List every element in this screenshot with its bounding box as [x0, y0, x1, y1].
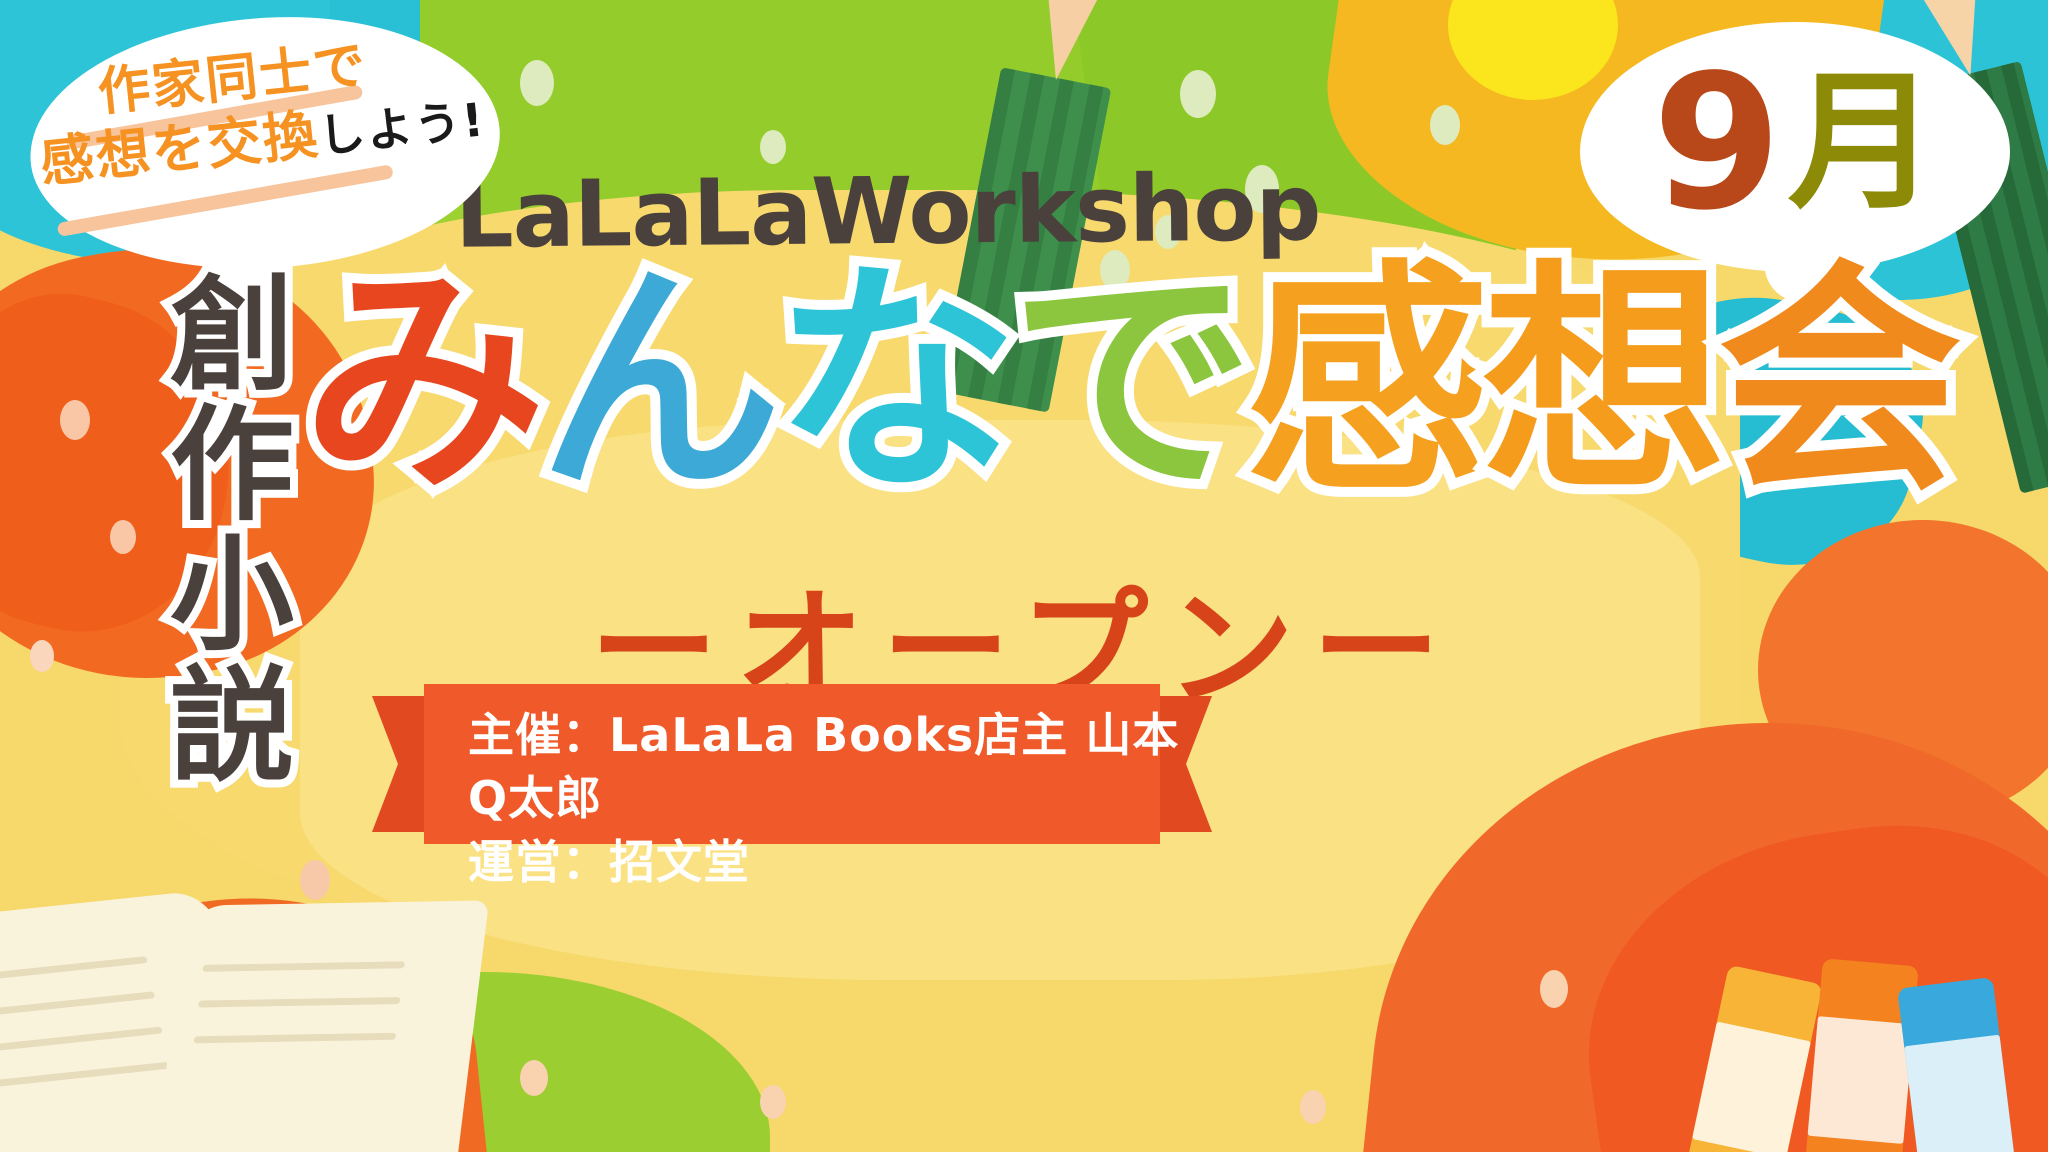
confetti-dot: [520, 1060, 548, 1096]
headline-big-char-1: み: [302, 265, 546, 499]
confetti-dot: [1180, 70, 1216, 118]
promo-banner: 作家同士で 感想を交換しよう! 9 月 LaLaLaWorkshop 創作 小説…: [0, 0, 2048, 1152]
credits-ribbon: 主催：LaLaLa Books店主 山本Q太郎 運営：招文堂: [372, 684, 1212, 844]
open-book-right-page: [151, 900, 489, 1152]
confetti-dot: [60, 400, 90, 440]
month-badge: 9 月: [1580, 22, 2010, 272]
headline: 創作 小説 みんなで感想会: [170, 265, 1890, 565]
headline-big-char-6: 想: [1482, 265, 1726, 499]
confetti-dot: [520, 60, 554, 106]
ribbon-line-organizer: 主催：LaLaLa Books店主 山本Q太郎: [468, 704, 1212, 831]
headline-big-char-7: 会: [1718, 265, 1962, 499]
headline-big-kanji: みんなで感想会: [310, 265, 1962, 499]
confetti-dot: [1300, 1090, 1326, 1124]
headline-big-char-3: な: [774, 265, 1018, 499]
ribbon-line-operator: 運営：招文堂: [468, 831, 1212, 894]
confetti-dot: [1540, 970, 1568, 1008]
confetti-dot: [1430, 105, 1460, 145]
confetti-dot: [760, 1085, 786, 1119]
headline-big-char-5: 感: [1246, 265, 1490, 499]
ribbon-text: 主催：LaLaLa Books店主 山本Q太郎 運営：招文堂: [468, 704, 1212, 894]
headline-big-char-4: で: [1010, 265, 1254, 499]
month-badge-number: 9: [1652, 50, 1781, 236]
headline-small-row-1: 創作: [170, 271, 296, 531]
headline-big-char-2: ん: [538, 265, 782, 499]
month-badge-unit: 月: [1788, 68, 1938, 218]
confetti-dot: [300, 860, 330, 900]
